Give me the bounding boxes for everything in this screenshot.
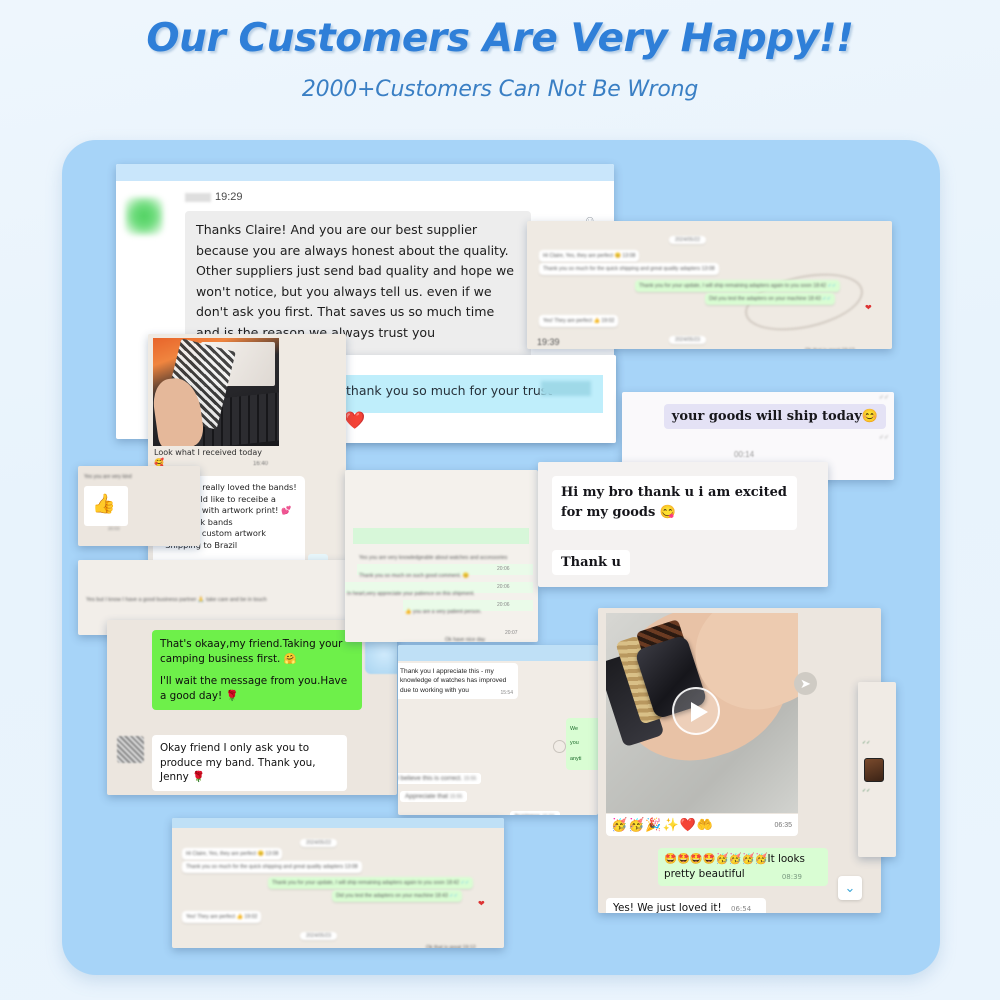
outgoing-message: Thank you so much on such good comment. … xyxy=(359,573,469,579)
read-receipt-icon: ✓✓ xyxy=(862,740,870,746)
chat-card-thank-you-trust[interactable]: thank you so much for your trust ❤️ xyxy=(302,355,616,443)
play-button-icon[interactable] xyxy=(672,687,720,735)
outgoing-message: Ok have nice day xyxy=(445,637,485,642)
camping-line-1: That's okaay,my friend.Taking your xyxy=(160,638,342,650)
knowledge-message-bubble: Thank you I appreciate this - my knowled… xyxy=(398,663,518,699)
chat-bottom-timestamp: 19:39 xyxy=(537,337,560,347)
incoming-message: business 15:56 xyxy=(510,811,560,815)
chat-card-adapters-duplicate[interactable]: 2024/05/22 Hi Claire, Yes, they are perf… xyxy=(172,818,504,948)
page-header: Our Customers Are Very Happy!! 2000+Cust… xyxy=(0,0,1000,102)
thumbnail-image[interactable] xyxy=(864,758,884,782)
message-timestamp: 20:07 xyxy=(505,630,518,636)
time-divider: 00:14 xyxy=(734,450,754,459)
outgoing-message: 👍 you are a very patient person. xyxy=(405,609,482,615)
beautiful-line-2: pretty beautiful xyxy=(664,868,745,880)
camping-line-3: I'll wait the message from xyxy=(160,675,295,687)
read-receipt-icon: ✓✓ xyxy=(879,394,889,401)
thumbs-up-icon: 👍 xyxy=(92,492,116,516)
outgoing-green-bubble: 🤩🤩🤩🤩🥳🥳🥳🥳It looks pretty beautiful 08:39 xyxy=(658,848,828,886)
date-chip: 2024/05/22 xyxy=(669,236,706,244)
partner-message-text: Yes but I know I have a good business pa… xyxy=(86,596,267,604)
contact-avatar xyxy=(117,736,144,763)
band-line-3: Jenny 🌹 xyxy=(160,771,205,783)
testimonial-message-text: Thanks Claire! And you are our best supp… xyxy=(196,222,514,340)
incoming-message: Thank you so much for the quick shipping… xyxy=(182,861,362,873)
date-chip: 2024/05/22 xyxy=(300,839,337,847)
incoming-white-bubble: Okay friend I only ask you to produce my… xyxy=(152,735,347,791)
heart-reaction-icon: ❤ xyxy=(478,899,485,908)
chat-card-excited-goods[interactable]: Hi my bro thank u i am excited for my go… xyxy=(538,462,828,587)
redacted-green-block xyxy=(353,528,529,544)
excited-line-2: goods 😋 xyxy=(612,505,676,520)
knowledge-line-1: Thank you I appreciate this - my xyxy=(400,668,494,675)
message-timestamp: 20:06 xyxy=(497,566,510,572)
chat-card-thumbs-up[interactable]: Yes you are very kind 👍 20:03 xyxy=(78,466,200,546)
video-reaction-row: 🥳🥳🎉✨❤️🤲 06:35 xyxy=(606,814,798,836)
incoming-message: Thank you so much for the quick shipping… xyxy=(539,263,719,275)
band-line-2: produce my band. Thank you, xyxy=(160,757,316,769)
excited-message-bubble: Hi my bro thank u i am excited for my go… xyxy=(552,476,797,530)
outgoing-message: Did you test the adapters on your machin… xyxy=(332,890,462,902)
message-header: 19:29 xyxy=(185,191,602,203)
reaction-emojis: 🥳🥳🎉✨❤️🤲 xyxy=(611,817,714,833)
message-timestamp: 08:39 xyxy=(782,870,802,885)
photo-caption: Look what I received today xyxy=(154,448,262,457)
redacted-name-block xyxy=(541,381,591,396)
message-timestamp: 19:29 xyxy=(215,191,243,203)
incoming-message: Yes! They are perfect 👍 19:02 xyxy=(539,315,618,327)
outgoing-message: In heart,very appreciate your patience o… xyxy=(347,591,475,597)
loading-spinner-icon xyxy=(553,740,566,753)
read-receipt-icon: ✓✓ xyxy=(879,434,889,441)
page-title: Our Customers Are Very Happy!! xyxy=(0,16,1000,61)
forward-icon[interactable]: ➤ xyxy=(794,672,817,695)
outgoing-green-bubble: That's okaay,my friend.Taking your campi… xyxy=(152,630,362,710)
message-timestamp: 20:06 xyxy=(497,584,510,590)
chat-window-titlebar xyxy=(172,818,504,828)
read-receipt-icon: ✓✓ xyxy=(862,788,870,794)
heart-reaction-icon: ❤ xyxy=(865,303,872,312)
outgoing-message: Thank you for your update, I will ship r… xyxy=(268,877,473,889)
outgoing-message: Thank you for your update, I will ship r… xyxy=(635,280,840,292)
date-chip: 2024/05/23 xyxy=(669,336,706,344)
incoming-message: Appreciate that 15:55 xyxy=(400,791,467,802)
contact-name-redacted xyxy=(185,193,211,202)
incoming-message: Hi Claire, Yes, they are perfect 😊 13:08 xyxy=(539,250,639,262)
outgoing-green-partial-bubble: We you anyti xyxy=(566,718,598,770)
page-subtitle: 2000+Customers Can Not Be Wrong xyxy=(0,77,1000,102)
incoming-message: I believe this is correct. 15:55 xyxy=(398,773,481,784)
contact-avatar xyxy=(125,197,163,235)
chat-card-adapters[interactable]: 2024/05/22 Hi Claire, Yes, they are perf… xyxy=(527,221,892,349)
chat-card-sliver[interactable]: ✓✓ ✓✓ xyxy=(858,682,896,857)
photo-timestamp: 16:40 xyxy=(253,461,268,467)
thank-u-bubble: Thank u xyxy=(552,550,630,575)
incoming-message: Yes you are very knowledgeable about wat… xyxy=(359,555,507,561)
camping-line-2: camping business first. 🤗 xyxy=(160,653,297,665)
sticker-timestamp: 20:03 xyxy=(108,526,120,531)
chat-card-camping-business[interactable]: That's okaay,my friend.Taking your campi… xyxy=(107,620,397,795)
incoming-white-bubble: Yes! We just loved it! 06:54 xyxy=(606,898,766,913)
scroll-down-chevron-icon[interactable]: ⌄ xyxy=(838,876,862,900)
message-timestamp: 15:54 xyxy=(500,689,513,698)
chat-card-watch-knowledge[interactable]: Thank you I appreciate this - my knowled… xyxy=(398,645,598,815)
incoming-message: Hi Claire, Yes, they are perfect 😊 13:08 xyxy=(182,848,282,860)
outgoing-message: Ok that is great 19:12 xyxy=(805,348,855,349)
outgoing-message: Ok that is great 19:12 xyxy=(426,945,476,948)
outgoing-message: Did you test the adapters on your machin… xyxy=(705,293,835,305)
loved-it-text: Yes! We just loved it! xyxy=(613,902,722,913)
chat-window-titlebar xyxy=(398,645,598,661)
cyan-message-bubble: thank you so much for your trust xyxy=(338,375,603,413)
beautiful-line-1: 🤩🤩🤩🤩🥳🥳🥳🥳It looks xyxy=(664,853,805,865)
green-line-1: We xyxy=(570,726,578,732)
band-line-1: Okay friend I only ask you to xyxy=(160,742,309,754)
chat-window-titlebar xyxy=(116,164,614,181)
kind-message-text: Yes you are very kind xyxy=(84,474,132,480)
green-line-2: you xyxy=(570,740,579,746)
date-chip: 2024/05/23 xyxy=(300,932,337,940)
knowledge-line-2: knowledge of watches has improved xyxy=(400,677,506,684)
incoming-message: Yes! They are perfect 👍 19:02 xyxy=(182,911,261,923)
knowledge-line-3: due to working with you xyxy=(400,687,469,694)
chat-card-compliments[interactable]: Yes you are very knowledgeable about wat… xyxy=(345,470,538,642)
video-timestamp: 06:35 xyxy=(774,822,792,829)
chat-card-video-review[interactable]: ➤ 🥳🥳🎉✨❤️🤲 06:35 🤩🤩🤩🤩🥳🥳🥳🥳It looks pretty … xyxy=(598,608,881,913)
sticker-image xyxy=(365,638,397,674)
heart-emoji-icon: ❤️ xyxy=(344,411,365,431)
green-line-3: anyti xyxy=(570,756,581,762)
message-timestamp: 20:06 xyxy=(497,602,510,608)
ship-today-message: your goods will ship today😊 xyxy=(664,404,886,429)
thank-you-text: thank you so much for your trust xyxy=(346,383,552,398)
received-bands-photo[interactable] xyxy=(153,338,279,446)
message-timestamp: 06:54 xyxy=(731,905,751,913)
